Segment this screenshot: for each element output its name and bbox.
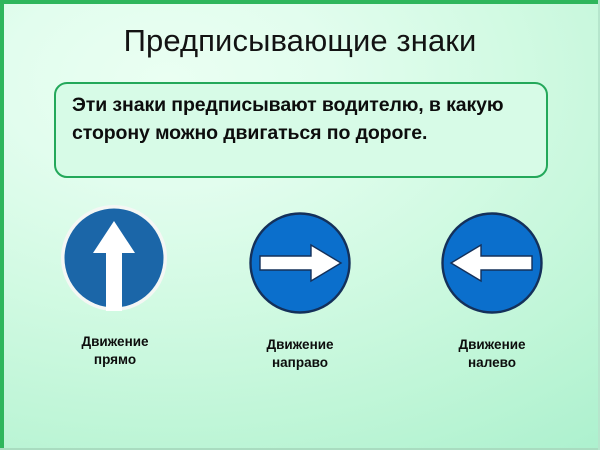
sign-caption-left-line1: Движение <box>422 336 562 354</box>
description-callout: Эти знаки предписывают водителю, в какую… <box>54 82 548 178</box>
slide-border-top <box>0 0 600 4</box>
road-sign-right[interactable] <box>249 212 351 314</box>
description-text: Эти знаки предписывают водителю, в какую… <box>72 92 536 147</box>
slide-canvas: Предписывающие знаки Эти знаки предписыв… <box>0 0 600 450</box>
sign-caption-right-line2: направо <box>230 354 370 372</box>
page-title: Предписывающие знаки <box>0 22 600 59</box>
sign-caption-straight-line1: Движение <box>30 333 200 351</box>
road-sign-straight[interactable] <box>59 203 169 313</box>
arrow-right-sign-icon <box>249 212 351 314</box>
sign-caption-straight-line2: прямо <box>30 351 200 369</box>
slide-border-left <box>0 0 4 450</box>
sign-caption-straight: Движение прямо <box>30 333 200 369</box>
arrow-up-sign-icon <box>59 203 169 313</box>
sign-caption-left-line2: налево <box>422 354 562 372</box>
sign-caption-right-line1: Движение <box>230 336 370 354</box>
sign-caption-right: Движение направо <box>230 336 370 372</box>
sign-caption-left: Движение налево <box>422 336 562 372</box>
road-sign-left[interactable] <box>441 212 543 314</box>
arrow-left-sign-icon <box>441 212 543 314</box>
